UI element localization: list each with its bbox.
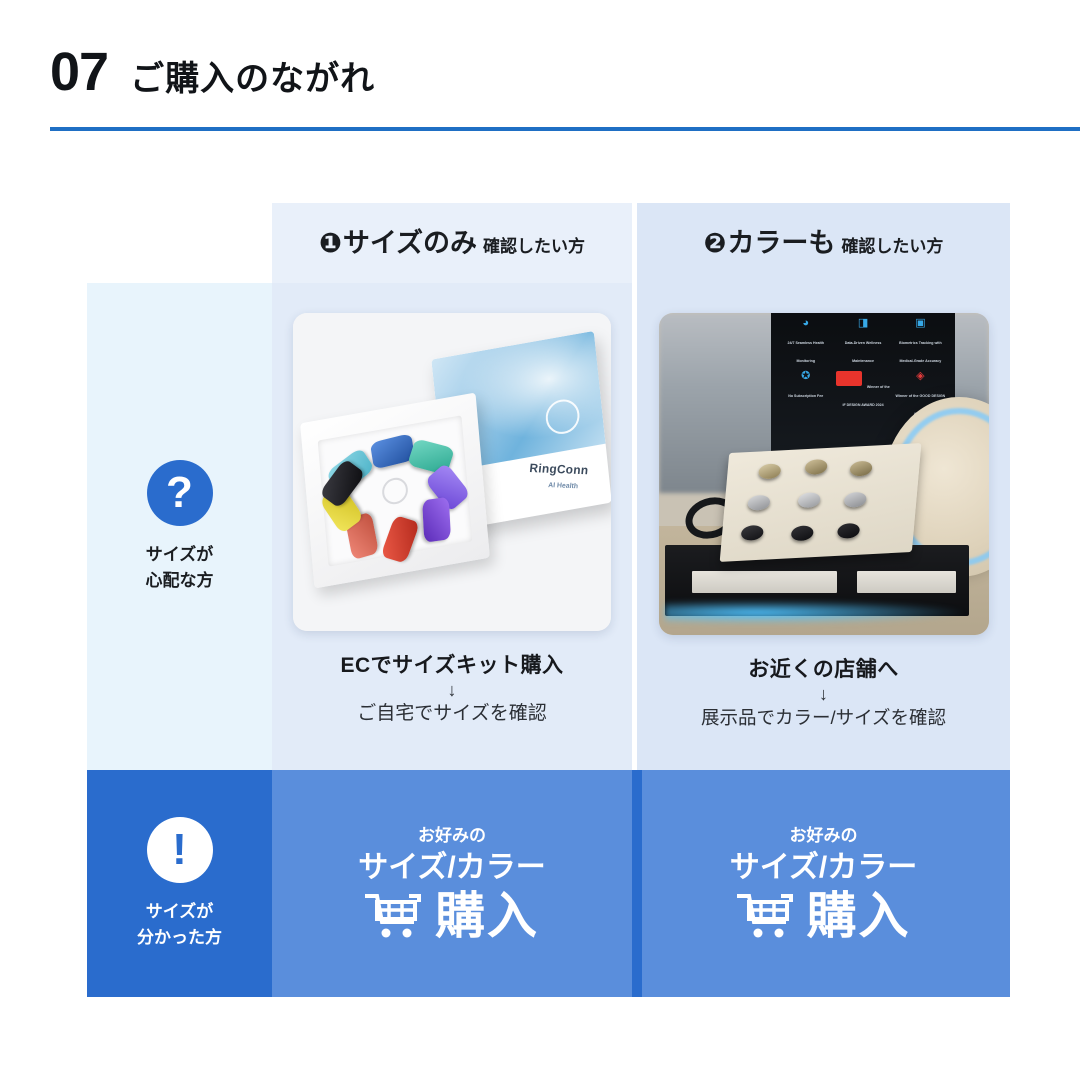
signage-feature-grid: ◕ 24/7 Seamless Health Monitoring ◨ Data… bbox=[778, 318, 948, 420]
purchase-pretext-1: お好みの bbox=[418, 827, 486, 844]
signage-feature-4: ✪ No Subscription Fee bbox=[778, 371, 833, 420]
store-display-photo: ◕ 24/7 Seamless Health Monitoring ◨ Data… bbox=[659, 313, 989, 635]
purchase-midtext-1: サイズ/カラー bbox=[358, 853, 545, 883]
cell-purchase-2[interactable]: お好みの サイズ/カラー 購入 bbox=[637, 770, 1010, 997]
row-label-text-1: サイズが 心配な方 bbox=[146, 542, 214, 593]
no-subscription-icon: ✪ bbox=[778, 371, 833, 382]
row-label-size-known: ! サイズが 分かった方 bbox=[87, 770, 272, 997]
biometrics-icon: ▣ bbox=[893, 318, 948, 329]
column-header-size-only: ❶ サイズのみ 確認したい方 bbox=[272, 203, 632, 283]
signage-feature-caption-4: No Subscription Fee bbox=[788, 394, 823, 398]
exclamation-mark-icon: ! bbox=[147, 817, 213, 883]
signage-feature-caption-3: Biometrics Tracking with Medical-Grade A… bbox=[899, 341, 942, 363]
caption-arrow-2: ↓ bbox=[701, 682, 946, 706]
column-title-1: サイズのみ bbox=[343, 230, 477, 257]
signage-feature-caption-2: Data-Driven Wellness Maintenance bbox=[845, 341, 882, 363]
row-label-line2: 心配な方 bbox=[146, 568, 214, 594]
column-marker-1: ❶ bbox=[319, 230, 342, 257]
column-marker-2: ❷ bbox=[704, 230, 727, 257]
column-header-color-too: ❷ カラーも 確認したい方 bbox=[637, 203, 1010, 283]
row-label-line1: サイズが bbox=[146, 542, 214, 568]
purchase-label-2: 購入 bbox=[807, 891, 911, 941]
caption-size-kit: ECでサイズキット購入 ↓ ご自宅でサイズを確認 bbox=[340, 653, 563, 726]
ring-size-kit-photo: RingConn AI Health RingConn bbox=[293, 313, 611, 631]
column-title-2: カラーも bbox=[727, 230, 835, 257]
box-brand-sub-label: AI Health bbox=[548, 482, 579, 490]
column-divider-blue bbox=[632, 770, 642, 997]
section-title: ご購入のながれ bbox=[130, 62, 375, 96]
shopping-cart-icon bbox=[365, 892, 421, 940]
row-label-text-2: サイズが 分かった方 bbox=[137, 899, 222, 950]
section-number: 07 bbox=[50, 45, 108, 99]
caption-store-visit: お近くの店舗へ ↓ 展示品でカラー/サイズを確認 bbox=[701, 657, 946, 730]
ring-display-tray bbox=[719, 443, 921, 562]
purchase-pretext-2: お好みの bbox=[790, 827, 858, 844]
shopping-cart-icon bbox=[737, 892, 793, 940]
good-design-icon: ◈ bbox=[893, 371, 948, 382]
tray-dial-icon bbox=[381, 476, 409, 507]
signage-feature-caption-5: Winner of the iF DESIGN AWARD 2024 bbox=[842, 385, 889, 407]
slide-root: 07 ご購入のながれ ❶ サイズのみ 確認したい方 ❷ カラーも 確認したい方 … bbox=[0, 0, 1080, 1080]
cell-purchase-1[interactable]: お好みの サイズ/カラー 購入 bbox=[272, 770, 632, 997]
caption-arrow-1: ↓ bbox=[340, 678, 563, 702]
signage-feature-5: Winner of the iF DESIGN AWARD 2024 bbox=[835, 371, 890, 420]
size-kit-tray bbox=[300, 393, 490, 589]
row-label-line1-b: サイズが bbox=[137, 899, 222, 925]
caption-main-1: ECでサイズキット購入 bbox=[340, 653, 563, 678]
column-subtitle-2: 確認したい方 bbox=[841, 238, 943, 255]
question-mark-icon: ? bbox=[147, 460, 213, 526]
signage-feature-3: ▣ Biometrics Tracking with Medical-Grade… bbox=[893, 318, 948, 367]
row-label-size-unsure: ? サイズが 心配な方 bbox=[87, 283, 272, 770]
cell-size-kit: RingConn AI Health RingConn bbox=[272, 283, 632, 770]
box-brand-label: RingConn bbox=[529, 461, 589, 477]
cell-store-visit: ◕ 24/7 Seamless Health Monitoring ◨ Data… bbox=[637, 283, 1010, 770]
purchase-midtext-2: サイズ/カラー bbox=[730, 853, 917, 883]
column-subtitle-1: 確認したい方 bbox=[483, 238, 585, 255]
row-label-line2-b: 分かった方 bbox=[137, 925, 222, 951]
data-chart-icon: ◨ bbox=[835, 318, 890, 329]
purchase-label-1: 購入 bbox=[435, 891, 539, 941]
signage-feature-caption-1: 24/7 Seamless Health Monitoring bbox=[787, 341, 824, 363]
monitoring-icon: ◕ bbox=[778, 318, 833, 329]
page-title: 07 ご購入のながれ bbox=[50, 45, 375, 99]
caption-sub-1: ご自宅でサイズを確認 bbox=[340, 702, 563, 726]
signage-feature-1: ◕ 24/7 Seamless Health Monitoring bbox=[778, 318, 833, 367]
caption-main-2: お近くの店舗へ bbox=[701, 657, 946, 682]
purchase-flow-matrix: ❶ サイズのみ 確認したい方 ❷ カラーも 確認したい方 ? サイズが 心配な方 bbox=[87, 203, 1010, 997]
if-design-award-icon bbox=[836, 371, 862, 386]
signage-feature-2: ◨ Data-Driven Wellness Maintenance bbox=[835, 318, 890, 367]
title-divider bbox=[50, 127, 1080, 131]
caption-sub-2: 展示品でカラー/サイズを確認 bbox=[701, 706, 946, 729]
size-kit-tray-inner bbox=[317, 416, 472, 567]
